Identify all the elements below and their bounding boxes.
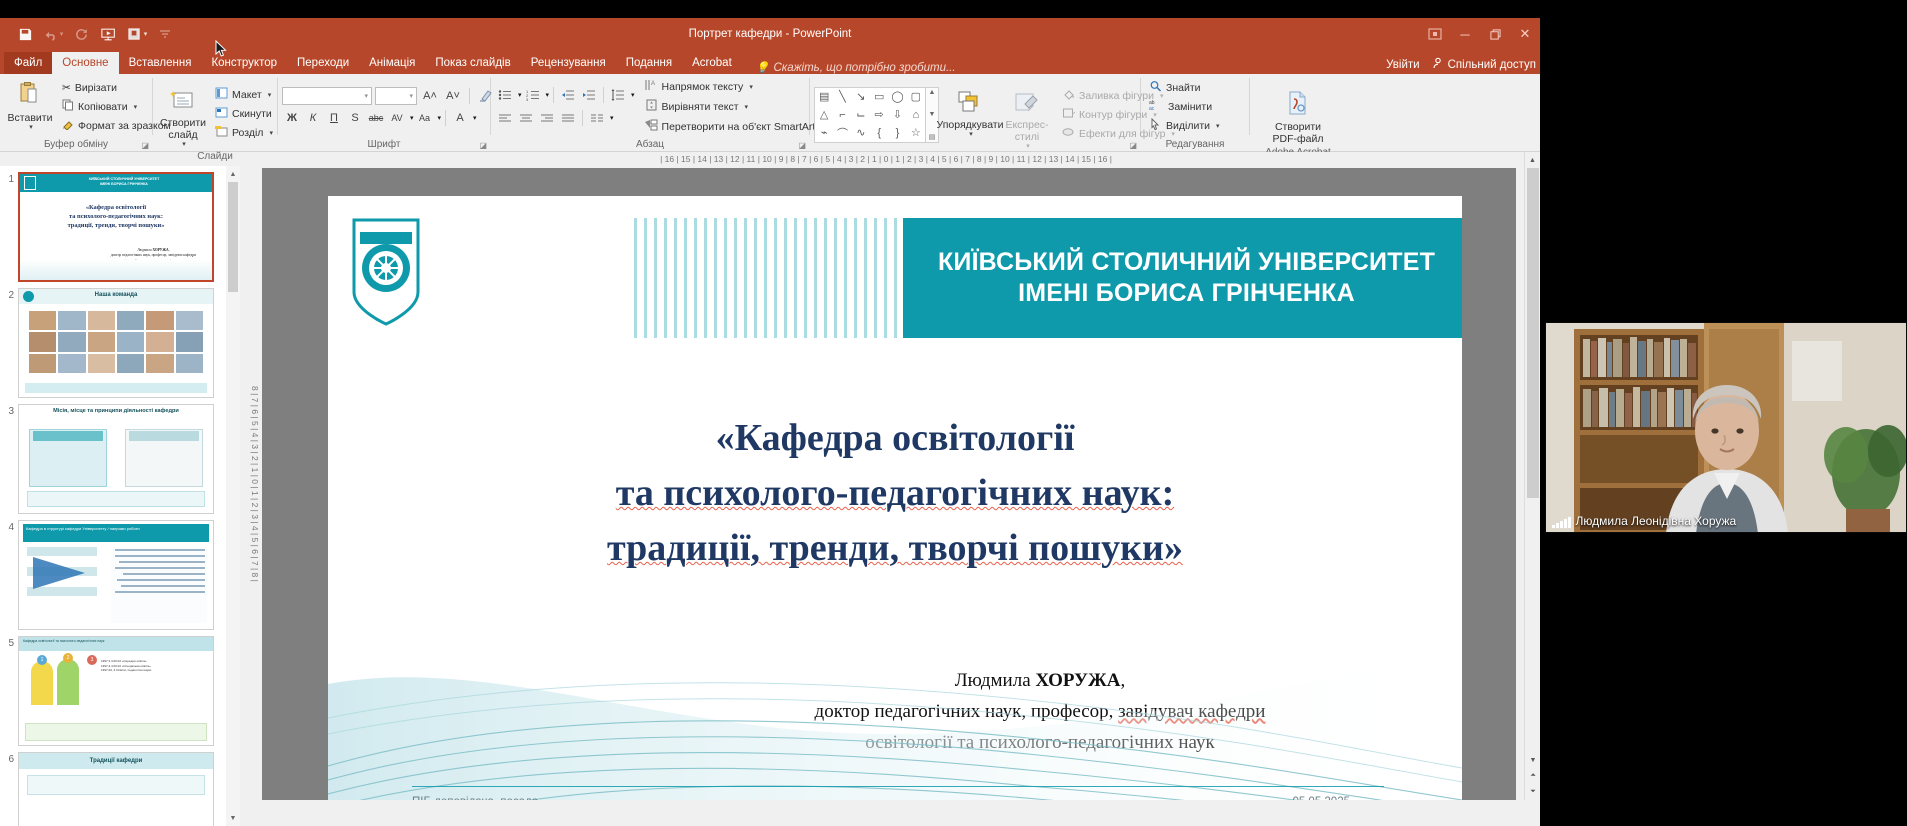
window-controls: ─ ✕ [1420, 18, 1540, 50]
thumbnail-row[interactable]: 4 Кафедра в структурі кафедри Університе… [0, 514, 239, 630]
find-button[interactable]: Знайти [1145, 78, 1224, 97]
convert-to-smartart-button[interactable]: Перетворити на об'єкт SmartArt ▾ [641, 117, 829, 136]
shapes-more-icon[interactable]: ▤ [929, 133, 936, 141]
arrow-shape-icon[interactable]: ↘ [856, 90, 865, 103]
restore-button[interactable] [1480, 18, 1510, 50]
section-label: Розділ [232, 127, 263, 139]
font-color-button[interactable]: A [450, 108, 470, 127]
tell-me-search[interactable]: 💡 Скажіть, що потрібно зробити... [756, 61, 956, 74]
convert-to-smartart-label: Перетворити на об'єкт SmartArt [662, 121, 816, 133]
search-icon [1149, 80, 1162, 95]
author-line-1: Людмила ХОРУЖА, [680, 666, 1400, 697]
text-direction-label: Напрямок тексту [662, 81, 744, 93]
footer-date[interactable]: 05.05.2025 [1292, 796, 1350, 800]
participant-name: Людмила Леонідівна Хоружа [1576, 514, 1737, 528]
italic-button[interactable]: К [303, 108, 323, 127]
thumbnail-scroll-thumb[interactable] [228, 182, 238, 292]
create-pdf-button[interactable]: Створити PDF-файл [1269, 76, 1328, 147]
tab-slideshow[interactable]: Показ слайдів [425, 52, 520, 74]
textbox-shape-icon[interactable]: ▤ [819, 90, 829, 103]
chevron-down-icon[interactable]: ▾ [1216, 122, 1220, 130]
find-label: Знайти [1166, 82, 1201, 94]
ribbon-group-slides: Створити слайд ▾ Макет ▾ [153, 74, 277, 151]
line-spacing-button[interactable] [608, 86, 628, 105]
previous-slide-button[interactable]: ⏶ [1525, 768, 1540, 784]
reset-label: Скинути [232, 108, 272, 120]
down-arrow-shape-icon[interactable]: ⇩ [893, 108, 902, 121]
align-text-icon [645, 99, 658, 114]
star-shape-icon[interactable]: ☆ [911, 126, 921, 139]
oval-shape-icon[interactable]: ◯ [891, 90, 903, 103]
footer-divider [412, 786, 1384, 787]
chevron-down-icon: ▾ [409, 92, 413, 100]
ribbon-group-font: ▾ ▾ A˄ A˅ Ж К П S abc [278, 74, 490, 151]
create-pdf-label: Створити PDF-файл [1273, 121, 1324, 145]
chevron-down-icon[interactable]: ▾ [1026, 143, 1030, 151]
thumbnail-number: 3 [4, 404, 18, 417]
slide-title-line-2: та психолого-педагогічних наук: [388, 466, 1402, 521]
ribbon-group-drawing: ▤ ╲ ↘ ▭ ◯ ▢ △ ⌐ ⌙ ⇨ ⇩ ⌂ ⌁ [810, 74, 1140, 151]
thumbnail-title: Місія, місце та принципи діяльності кафе… [25, 408, 207, 415]
window-title: Портрет кафедри - PowerPoint [0, 28, 1540, 40]
tab-view[interactable]: Подання [616, 52, 682, 74]
thumbnail-number: 2 [4, 288, 18, 301]
author-comma: , [1121, 670, 1126, 691]
select-label: Виділити [1166, 120, 1210, 132]
font-dialog-launcher[interactable]: ◪ [479, 141, 487, 150]
thumbnail-title: Кафедра освітології та психолого-педагог… [19, 637, 213, 651]
justify-button[interactable] [558, 109, 578, 128]
tab-file[interactable]: Файл [4, 52, 52, 74]
copy-label: Копіювати [78, 101, 128, 113]
layout-label: Макет [232, 89, 262, 101]
scrollbar-bottom-controls[interactable]: ▼ ⏶ ⏷ [1525, 752, 1540, 800]
author-first-name: Людмила [955, 670, 1036, 691]
scroll-down-icon[interactable]: ▼ [1525, 752, 1540, 768]
author-degree: доктор педагогічних наук, професор, [815, 701, 1119, 722]
quick-access-toolbar: ▾ ▾ [0, 22, 178, 46]
clipboard-group-label: Буфер обміну [4, 137, 148, 151]
tab-acrobat[interactable]: Acrobat [682, 52, 742, 74]
character-spacing-button[interactable]: AV [387, 108, 407, 127]
shapes-gallery[interactable]: ▤ ╲ ↘ ▭ ◯ ▢ △ ⌐ ⌙ ⇨ ⇩ ⌂ ⌁ [814, 87, 939, 143]
vertical-ruler: 8 | 7 | 6 | 5 | 4 | 3 | 2 | 1 | 0 | 1 | … [248, 168, 262, 800]
university-crest-logo [350, 218, 422, 326]
svg-text:ac: ac [1149, 106, 1155, 111]
participant-name-overlay: Людмила Леонідівна Хоружа [1552, 514, 1736, 528]
paragraph-group-label: Абзац [495, 137, 805, 151]
reset-icon [215, 106, 228, 121]
title-bar: ▾ ▾ Портрет кафедри - PowerPoint [0, 18, 1540, 50]
thumbnail-row[interactable]: 5 Кафедра освітології та психолого-педаг… [0, 630, 239, 746]
chevron-down-icon[interactable]: ▾ [473, 114, 477, 122]
font-size-combo[interactable]: ▾ [375, 87, 417, 105]
slide-title-line-3: традиції, тренди, творчі пошуки» [388, 521, 1402, 576]
arrange-label: Упорядкувати [937, 119, 1004, 131]
underline-button[interactable]: П [324, 108, 344, 127]
new-slide-icon [170, 78, 196, 115]
slide-thumbnail-5[interactable]: Кафедра освітології та психолого-педагог… [18, 636, 214, 746]
shapes-grid[interactable]: ▤ ╲ ↘ ▭ ◯ ▢ △ ⌐ ⌙ ⇨ ⇩ ⌂ ⌁ [814, 87, 926, 143]
chevron-down-icon[interactable]: ▾ [749, 83, 753, 91]
chevron-down-icon[interactable]: ▾ [518, 91, 522, 99]
tab-review[interactable]: Рецензування [521, 52, 616, 74]
elbow-connector-icon[interactable]: ⌐ [839, 109, 845, 121]
chevron-down-icon[interactable]: ▾ [182, 141, 186, 149]
scroll-down-icon[interactable]: ▼ [929, 111, 936, 118]
freeform-shape-icon[interactable]: ⌁ [821, 126, 828, 139]
layout-button[interactable]: Макет ▾ [211, 85, 277, 104]
pdf-icon [1285, 78, 1311, 119]
paragraph-dialog-launcher[interactable]: ◪ [798, 141, 806, 150]
paste-button[interactable]: Вставити ▾ [4, 79, 56, 134]
drawing-dialog-launcher[interactable]: ◪ [1129, 141, 1137, 150]
slide-title-textbox[interactable]: «Кафедра освітології та психолого-педаго… [388, 411, 1402, 576]
thumbnail-title: «Кафедра освітології та психолого-педаго… [28, 204, 204, 231]
save-icon[interactable] [12, 22, 38, 46]
chevron-down-icon[interactable]: ▾ [134, 103, 138, 111]
thumbnail-row[interactable]: 3 Місія, місце та принципи діяльності ка… [0, 398, 239, 514]
text-shadow-button[interactable]: S [345, 108, 365, 127]
author-position: завідувач кафедри [1118, 701, 1265, 722]
tab-home[interactable]: Основне [52, 52, 118, 74]
strikethrough-button[interactable]: abc [366, 108, 386, 127]
align-center-button[interactable] [516, 109, 536, 128]
share-button[interactable]: Спільний доступ [1432, 57, 1536, 72]
ribbon-group-acrobat: Створити PDF-файл Adobe Acrobat [1250, 74, 1346, 151]
chevron-down-icon[interactable]: ▾ [268, 91, 272, 99]
right-arrow-shape-icon[interactable]: ⇨ [875, 108, 884, 121]
pentagon-shape-icon[interactable]: ⌂ [913, 109, 920, 121]
tab-animations[interactable]: Анімація [359, 52, 425, 74]
section-button[interactable]: Розділ ▾ [211, 123, 277, 142]
university-banner: КИЇВСЬКИЙ СТОЛИЧНИЙ УНІВЕРСИТЕТ ІМЕНІ БО… [903, 218, 1462, 338]
align-left-button[interactable] [495, 109, 515, 128]
person-icon [1432, 57, 1444, 72]
section-icon [215, 125, 228, 140]
left-brace-shape-icon[interactable]: { [877, 127, 881, 139]
slide-thumbnail-4[interactable]: Кафедра в структурі кафедри Університету… [18, 520, 214, 630]
cursor-select-icon [1149, 118, 1162, 133]
thumbnail-title: Наша команда [19, 292, 213, 298]
chevron-down-icon: ▾ [364, 92, 368, 100]
chevron-down-icon[interactable]: ▾ [969, 131, 973, 139]
start-slideshow-icon[interactable] [96, 22, 122, 46]
increase-font-size-button[interactable]: A˄ [420, 86, 440, 105]
ribbon-display-options-icon[interactable] [1420, 18, 1450, 50]
signal-bars-icon [1552, 517, 1571, 528]
banner-stripe-decoration [628, 218, 903, 338]
shapes-scrollbar[interactable]: ▲ ▼ ▤ [926, 87, 939, 143]
minimize-button[interactable]: ─ [1450, 18, 1480, 50]
svg-text:A: A [651, 81, 655, 87]
tab-transitions[interactable]: Переходи [287, 52, 359, 74]
align-right-button[interactable] [537, 109, 557, 128]
thumbnail-row[interactable]: 1 КИЇВСЬКИЙ СТОЛИЧНИЙ УНІВЕРСИТЕТІМЕНІ Б… [0, 166, 239, 282]
rounded-rect-shape-icon[interactable]: ▢ [911, 90, 921, 103]
scissors-icon: ✂ [62, 82, 71, 94]
thumbnail-number: 5 [4, 636, 18, 649]
chevron-down-icon[interactable]: ▾ [438, 114, 442, 122]
slide-editing-area[interactable]: КИЇВСЬКИЙ СТОЛИЧНИЙ УНІВЕРСИТЕТ ІМЕНІ БО… [262, 168, 1516, 800]
ribbon-tabs: Файл Основне Вставлення Конструктор Пере… [0, 50, 1540, 74]
mouse-cursor [215, 40, 227, 58]
decrease-font-size-button[interactable]: A˅ [443, 86, 463, 105]
font-group-label: Шрифт [282, 137, 486, 151]
thumbnail-scrollbar[interactable]: ▲ ▼ [226, 166, 240, 826]
scrollbar-thumb[interactable] [1527, 168, 1539, 498]
chevron-down-icon[interactable]: ▾ [410, 114, 414, 122]
ribbon-group-clipboard: Вставити ▾ ✂ Вирізати Копіювати [0, 74, 152, 151]
slide-thumbnail-2[interactable]: Наша команда [18, 288, 214, 398]
slide-thumbnail-1[interactable]: КИЇВСЬКИЙ СТОЛИЧНИЙ УНІВЕРСИТЕТІМЕНІ БОР… [18, 172, 214, 282]
chevron-down-icon[interactable]: ▾ [546, 91, 550, 99]
scroll-up-icon[interactable]: ▲ [929, 89, 936, 96]
svg-text:3: 3 [526, 97, 529, 101]
arrange-button[interactable]: Упорядкувати ▾ [944, 88, 996, 141]
chevron-down-icon[interactable]: ▾ [269, 129, 273, 137]
text-direction-button[interactable]: A Напрямок тексту ▾ [641, 77, 829, 96]
arrange-icon [957, 90, 983, 117]
share-label: Спільний доступ [1448, 59, 1536, 71]
quick-styles-icon [1013, 78, 1041, 117]
paste-label: Вставити [8, 112, 53, 124]
thumbnail-number: 6 [4, 752, 18, 765]
ribbon-group-paragraph: ▾ 123 ▾ [491, 74, 809, 151]
thumbnail-row[interactable]: 2 Наша команда [0, 282, 239, 398]
footer-presenter-placeholder[interactable]: ПІБ доповідача, посада [412, 796, 538, 800]
align-text-label: Вирівняти текст [662, 101, 739, 113]
slide-author-textbox[interactable]: Людмила ХОРУЖА, доктор педагогічних наук… [680, 666, 1400, 758]
ribbon: Вставити ▾ ✂ Вирізати Копіювати [0, 74, 1540, 152]
account-area: Увійти Спільний доступ [1386, 57, 1536, 72]
thumbnail-title: Традиції кафедри [19, 753, 213, 769]
decrease-indent-button[interactable] [558, 86, 578, 105]
right-brace-shape-icon[interactable]: } [896, 127, 900, 139]
triangle-shape-icon[interactable]: △ [820, 108, 828, 121]
chevron-down-icon[interactable]: ▾ [610, 114, 614, 122]
webcam-video-frame [1546, 323, 1907, 533]
scroll-down-icon[interactable]: ▼ [226, 810, 240, 826]
slide-thumbnail-6[interactable]: Традиції кафедри [18, 752, 214, 826]
close-button[interactable]: ✕ [1510, 18, 1540, 50]
slide-title-line-1: «Кафедра освітології [388, 411, 1402, 466]
horizontal-ruler: | 16 | 15 | 14 | 13 | 12 | 11 | 10 | 9 |… [256, 152, 1516, 166]
sign-in-button[interactable]: Увійти [1386, 59, 1419, 71]
replace-icon: abac [1149, 99, 1164, 114]
editing-group-label: Редагування [1145, 137, 1245, 151]
rectangle-shape-icon[interactable]: ▭ [874, 90, 884, 103]
slide-vertical-scrollbar[interactable]: ▲ ▼ ⏶ ⏷ [1524, 152, 1540, 800]
curve-shape-icon[interactable]: ⌒ [837, 125, 848, 141]
new-slide-label: Створити слайд [160, 117, 206, 141]
clipboard-icon [17, 81, 43, 110]
shape-fill-icon [1062, 88, 1075, 103]
new-slide-button[interactable]: Створити слайд ▾ [157, 76, 209, 151]
numbering-button[interactable]: 123 [523, 86, 543, 105]
author-line-2: доктор педагогічних наук, професор, заві… [680, 697, 1400, 728]
thumbnail-row[interactable]: 6 Традиції кафедри [0, 746, 239, 826]
font-name-combo[interactable]: ▾ [282, 87, 372, 105]
cut-label: Вирізати [75, 82, 117, 94]
undo-icon[interactable]: ▾ [40, 22, 66, 46]
author-line-3: освітології та психолого-педагогічних на… [680, 728, 1400, 759]
webcam-video-tile[interactable]: Людмила Леонідівна Хоружа [1545, 322, 1907, 533]
copy-icon [62, 99, 74, 114]
text-direction-icon: A [645, 79, 658, 94]
ribbon-group-editing: Знайти abac Замінити Виділи [1141, 74, 1249, 151]
tab-insert[interactable]: Вставлення [119, 52, 202, 74]
columns-button[interactable] [587, 109, 607, 128]
thumbnail-banner-text: КИЇВСЬКИЙ СТОЛИЧНИЙ УНІВЕРСИТЕТІМЕНІ БОР… [40, 177, 208, 186]
lightbulb-icon: 💡 [756, 61, 770, 74]
replace-label: Замінити [1168, 101, 1212, 113]
powerpoint-window: ▾ ▾ Портрет кафедри - PowerPoint [0, 18, 1540, 826]
slide-thumbnail-3[interactable]: Місія, місце та принципи діяльності кафе… [18, 404, 214, 514]
tell-me-placeholder: Скажіть, що потрібно зробити... [773, 62, 955, 74]
clipboard-dialog-launcher[interactable]: ◪ [141, 141, 149, 150]
replace-button[interactable]: abac Замінити [1145, 97, 1224, 116]
line-shape-icon[interactable]: ╲ [839, 90, 846, 103]
select-button[interactable]: Виділити ▾ [1145, 116, 1224, 135]
thumbnail-number: 1 [4, 172, 18, 185]
next-slide-button[interactable]: ⏷ [1525, 784, 1540, 800]
shape-outline-icon [1062, 107, 1075, 122]
paintbrush-icon [62, 118, 74, 133]
redo-icon[interactable] [68, 22, 94, 46]
quick-styles-button[interactable]: Експрес- стилі ▾ [1001, 76, 1053, 153]
align-text-button[interactable]: Вирівняти текст ▾ [641, 97, 829, 116]
screen-root: ▾ ▾ Портрет кафедри - PowerPoint [0, 0, 1907, 826]
bullets-button[interactable] [495, 86, 515, 105]
chevron-down-icon[interactable]: ▾ [631, 91, 635, 99]
bold-button[interactable]: Ж [282, 108, 302, 127]
thumbnail-number: 4 [4, 520, 18, 533]
shape-outline-label: Контур фігури [1079, 109, 1147, 121]
customize-qat-icon[interactable] [152, 22, 178, 46]
scroll-up-icon[interactable]: ▲ [1525, 152, 1540, 168]
vertical-ruler-ticks: 8 | 7 | 6 | 5 | 4 | 3 | 2 | 1 | 0 | 1 | … [250, 386, 260, 582]
slide-thumbnail-pane[interactable]: 1 КИЇВСЬКИЙ СТОЛИЧНИЙ УНІВЕРСИТЕТІМЕНІ Б… [0, 166, 240, 826]
change-case-button[interactable]: Aa [415, 108, 435, 127]
arc-shape-icon[interactable]: ∿ [856, 126, 865, 139]
increase-indent-button[interactable] [579, 86, 599, 105]
layout-icon [215, 87, 228, 102]
author-surname: ХОРУЖА [1035, 670, 1120, 691]
reset-button[interactable]: Скинути [211, 104, 277, 123]
chevron-down-icon[interactable]: ▾ [745, 103, 749, 111]
thumbnail-title: Кафедра в структурі кафедри Університету… [23, 524, 209, 542]
quick-styles-label: Експрес- стилі [1005, 119, 1048, 143]
smartart-icon [645, 119, 658, 134]
shape-effects-icon [1062, 126, 1075, 141]
chevron-down-icon[interactable]: ▾ [29, 124, 33, 132]
current-slide[interactable]: КИЇВСЬКИЙ СТОЛИЧНИЙ УНІВЕРСИТЕТ ІМЕНІ БО… [328, 196, 1462, 800]
touch-mode-icon[interactable]: ▾ [124, 22, 150, 46]
scroll-up-icon[interactable]: ▲ [226, 166, 240, 182]
university-name: КИЇВСЬКИЙ СТОЛИЧНИЙ УНІВЕРСИТЕТ ІМЕНІ БО… [938, 247, 1435, 310]
elbow-connector-2-icon[interactable]: ⌙ [856, 108, 865, 121]
